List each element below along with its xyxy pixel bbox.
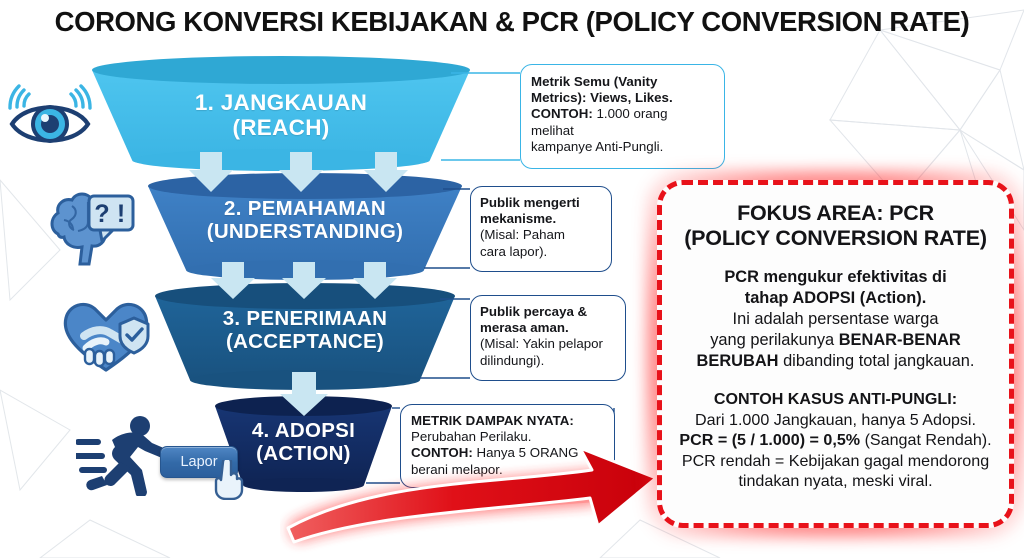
heart-handshake-shield-icon bbox=[56, 292, 156, 378]
infographic-canvas: CORONG KONVERSI KEBIJAKAN & PCR (POLICY … bbox=[0, 0, 1024, 558]
brain-question-icon: ? ! bbox=[44, 184, 140, 280]
callout-understanding: Publik mengertimekanisme.(Misal: Pahamca… bbox=[470, 186, 612, 272]
svg-text:!: ! bbox=[117, 200, 125, 228]
focus-title-line2: (POLICY CONVERSION RATE) bbox=[684, 226, 987, 250]
red-emphasis-arrow bbox=[280, 440, 700, 558]
callout-reach-text: Metrik Semu (VanityMetrics): Views, Like… bbox=[531, 74, 714, 155]
focus-area-box: FOKUS AREA: PCR (POLICY CONVERSION RATE)… bbox=[657, 180, 1014, 528]
focus-title: FOKUS AREA: PCR (POLICY CONVERSION RATE) bbox=[676, 201, 995, 251]
callout-acceptance: Publik percaya &merasa aman.(Misal: Yaki… bbox=[470, 295, 626, 381]
callout-understanding-text: Publik mengertimekanisme.(Misal: Pahamca… bbox=[480, 195, 602, 260]
callout-reach: Metrik Semu (VanityMetrics): Views, Like… bbox=[520, 64, 725, 169]
eye-icon bbox=[4, 74, 96, 154]
callout-acceptance-text: Publik percaya &merasa aman.(Misal: Yaki… bbox=[480, 304, 616, 369]
funnel-stage-reach bbox=[92, 56, 470, 171]
motion-lines bbox=[76, 442, 104, 470]
focus-paragraph-1: PCR mengukur efektivitas ditahap ADOPSI … bbox=[676, 267, 995, 371]
svg-text:?: ? bbox=[94, 200, 109, 228]
focus-paragraph-2: CONTOH KASUS ANTI-PUNGLI:Dari 1.000 Jang… bbox=[676, 389, 995, 491]
focus-title-line1: FOKUS AREA: PCR bbox=[737, 201, 934, 225]
cursor-hand-icon bbox=[212, 460, 246, 500]
